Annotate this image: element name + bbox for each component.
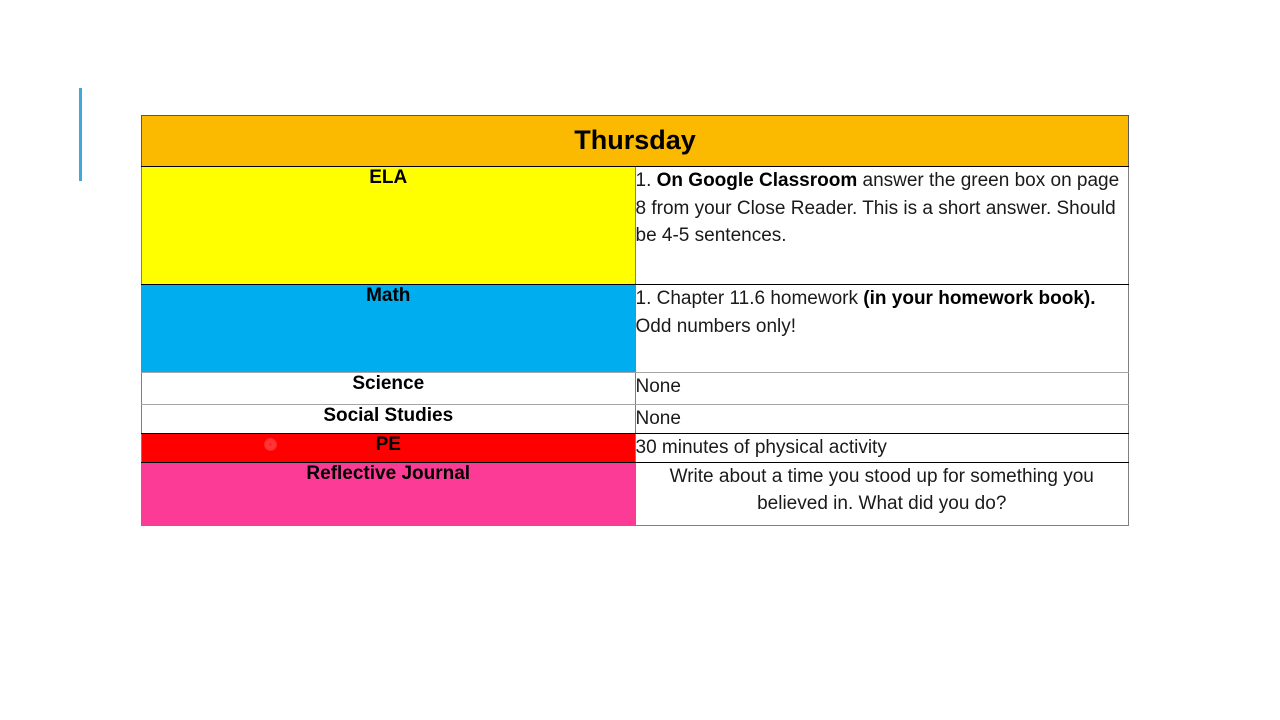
homework-table: Thursday ELA 1. On Google Classroom answ… <box>141 115 1129 526</box>
assignment-reflective-journal: Write about a time you stood up for some… <box>635 462 1129 525</box>
table-row-social-studies: Social Studies None <box>142 405 1129 434</box>
assignment-math-number: 1. Chapter 11.6 homework <box>636 288 864 309</box>
assignment-social-studies: None <box>635 405 1129 434</box>
table-row-pe: PE 30 minutes of physical activity <box>142 434 1129 463</box>
subject-label-math: Math <box>142 285 636 373</box>
table-row-reflective-journal: Reflective Journal Write about a time yo… <box>142 462 1129 525</box>
assignment-math-emphasis: (in your homework book). <box>863 288 1095 309</box>
assignment-math-line2: Odd numbers only! <box>636 316 797 337</box>
assignment-pe: 30 minutes of physical activity <box>635 434 1129 463</box>
table-row-math: Math 1. Chapter 11.6 homework (in your h… <box>142 285 1129 373</box>
assignment-ela: 1. On Google Classroom answer the green … <box>635 167 1129 285</box>
table-title-row: Thursday <box>142 116 1129 167</box>
table-title: Thursday <box>142 116 1129 167</box>
table-row-science: Science None <box>142 373 1129 405</box>
assignment-math: 1. Chapter 11.6 homework (in your homewo… <box>635 285 1129 373</box>
subject-label-social-studies: Social Studies <box>142 405 636 434</box>
subject-label-reflective-journal: Reflective Journal <box>142 462 636 525</box>
table-row-ela: ELA 1. On Google Classroom answer the gr… <box>142 167 1129 285</box>
slide-accent-rule <box>79 88 82 181</box>
assignment-ela-number: 1. <box>636 170 657 191</box>
subject-label-science: Science <box>142 373 636 405</box>
assignment-science: None <box>635 373 1129 405</box>
subject-label-ela: ELA <box>142 167 636 285</box>
subject-label-pe: PE <box>142 434 636 463</box>
assignment-ela-emphasis: On Google Classroom <box>657 170 858 191</box>
